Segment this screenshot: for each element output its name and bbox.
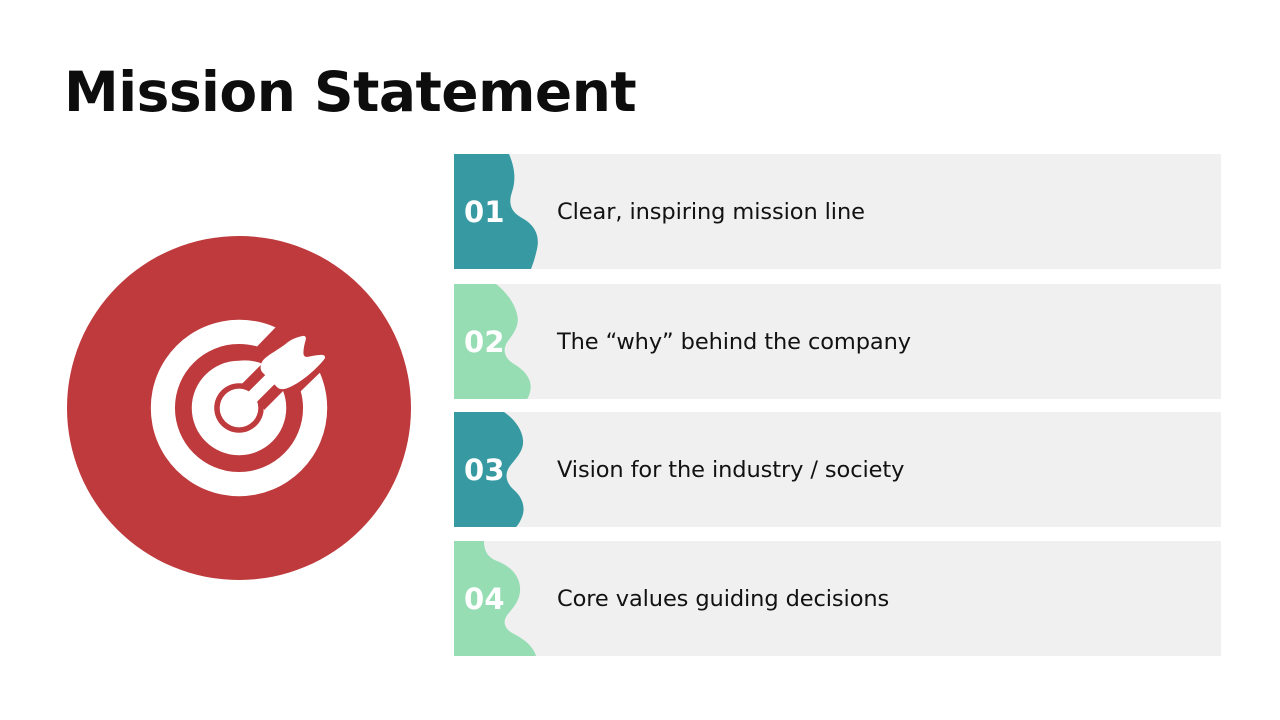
- list-item-label: Vision for the industry / society: [557, 412, 1205, 527]
- list-item-label: The “why” behind the company: [557, 284, 1205, 399]
- list-item-label: Core values guiding decisions: [557, 541, 1205, 656]
- list-item-label: Clear, inspiring mission line: [557, 154, 1205, 269]
- list-item-number: 04: [464, 541, 524, 656]
- list-item-number: 02: [464, 284, 524, 399]
- list-item[interactable]: 02 The “why” behind the company: [454, 284, 1221, 399]
- list-item[interactable]: 03 Vision for the industry / society: [454, 412, 1221, 527]
- slide-root: Mission Statement 01 Clear, i: [0, 0, 1280, 720]
- list-item-number: 03: [464, 412, 524, 527]
- list-item-number: 01: [464, 154, 524, 269]
- page-title: Mission Statement: [64, 58, 636, 126]
- mission-points-list: 01 Clear, inspiring mission line 02 The …: [454, 154, 1221, 657]
- list-item[interactable]: 04 Core values guiding decisions: [454, 541, 1221, 656]
- list-item[interactable]: 01 Clear, inspiring mission line: [454, 154, 1221, 269]
- target-dart-icon: [67, 236, 411, 580]
